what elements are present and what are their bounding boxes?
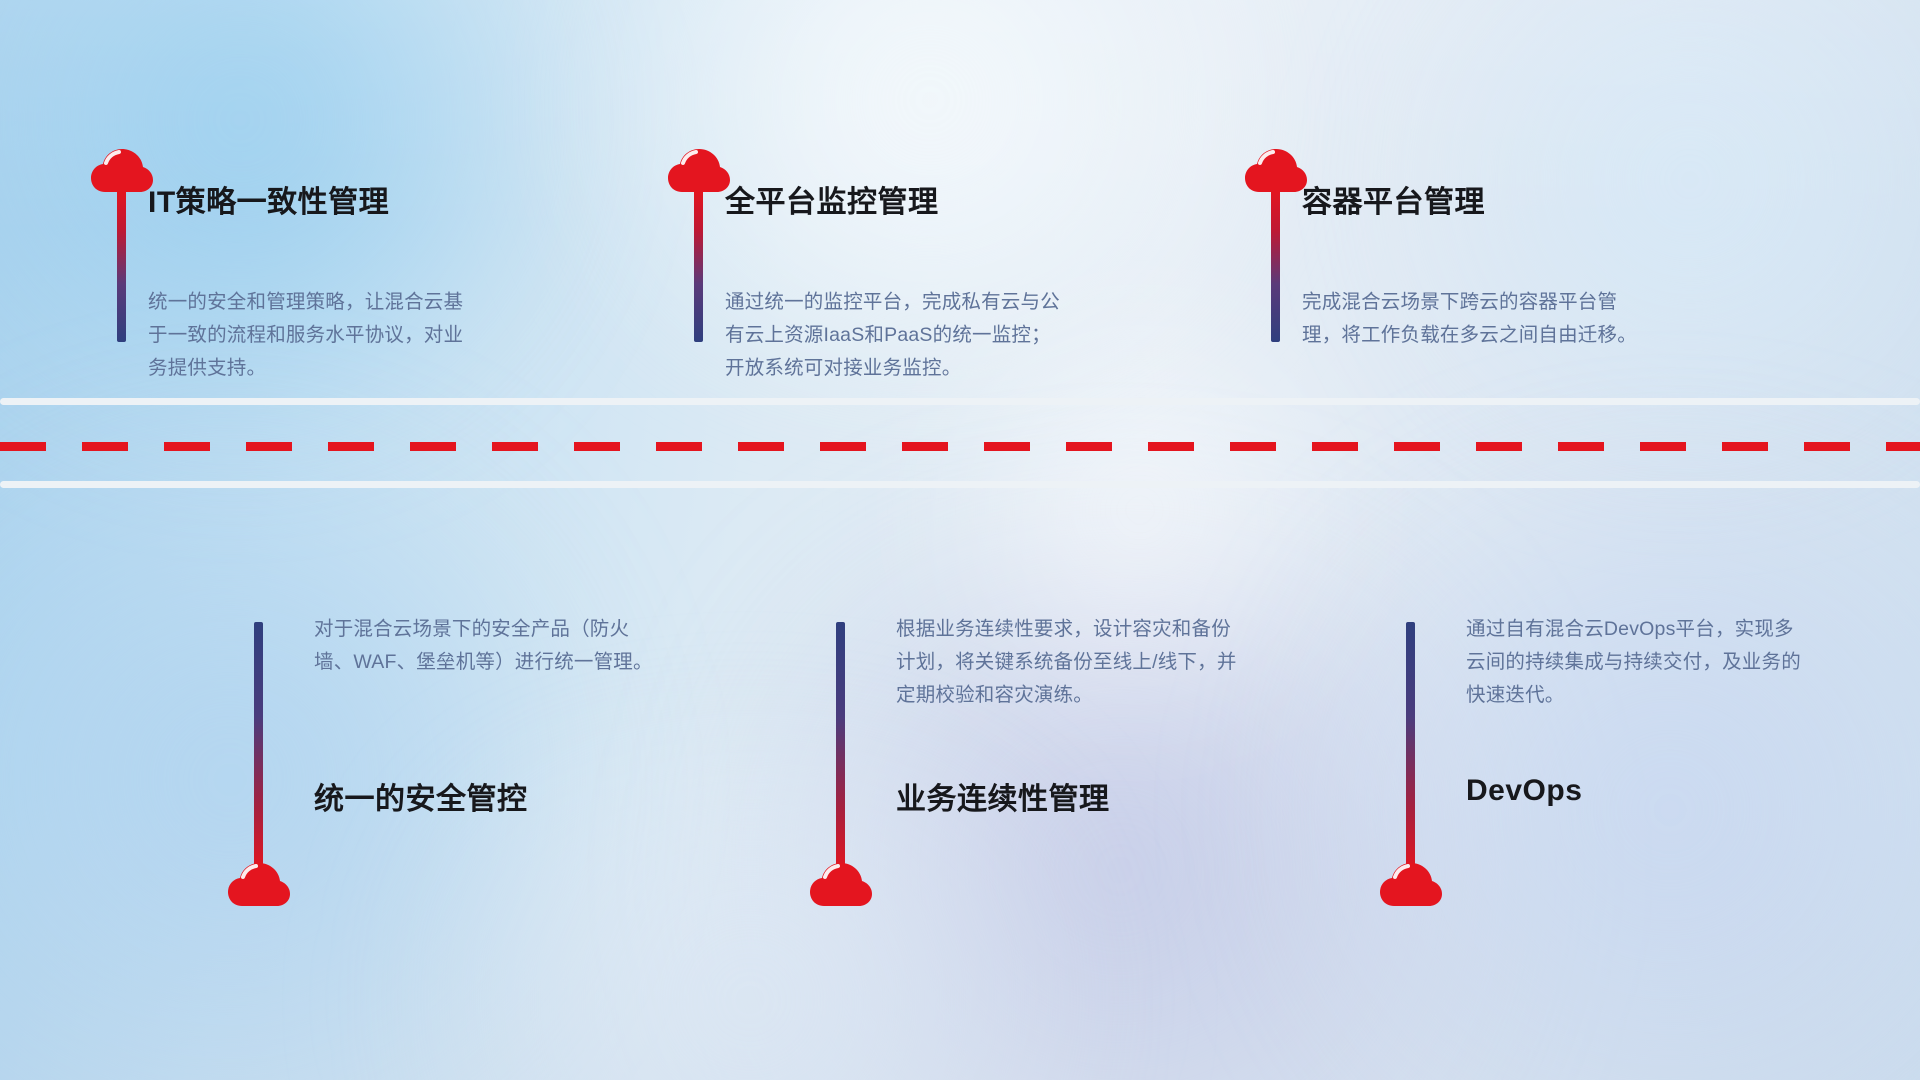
card-title: IT策略一致性管理: [148, 177, 389, 221]
card-title: 统一的安全管控: [314, 774, 528, 818]
connector-stem: [694, 190, 703, 342]
divider-rule-top: [0, 398, 1920, 405]
card-title: 业务连续性管理: [896, 774, 1110, 818]
connector-stem: [1406, 622, 1415, 872]
connector-stem: [117, 190, 126, 342]
cloud-icon: [91, 148, 153, 194]
cloud-icon: [668, 148, 730, 194]
connector-stem: [1271, 190, 1280, 342]
card-body: 通过自有混合云DevOps平台，实现多云间的持续集成与持续交付，及业务的快速迭代…: [1466, 613, 1811, 712]
cloud-icon: [1245, 148, 1307, 194]
card-title: 容器平台管理: [1302, 177, 1485, 221]
cloud-icon: [228, 862, 290, 908]
card-body: 统一的安全和管理策略，让混合云基于一致的流程和服务水平协议，对业务提供支持。: [148, 286, 478, 385]
cloud-icon: [810, 862, 872, 908]
card-body: 通过统一的监控平台，完成私有云与公有云上资源IaaS和PaaS的统一监控；开放系…: [725, 286, 1070, 385]
connector-stem: [254, 622, 263, 872]
divider-dashed-line: [0, 442, 1920, 451]
card-title: 全平台监控管理: [725, 177, 939, 221]
card-body: 对于混合云场景下的安全产品（防火墙、WAF、堡垒机等）进行统一管理。: [314, 613, 659, 679]
card-title: DevOps: [1466, 774, 1582, 808]
center-divider: [0, 398, 1920, 488]
background: [0, 0, 1920, 1080]
background-vignette: [0, 0, 1920, 1080]
divider-rule-bottom: [0, 481, 1920, 488]
card-body: 根据业务连续性要求，设计容灾和备份计划，将关键系统备份至线上/线下，并定期校验和…: [896, 613, 1241, 712]
cloud-icon: [1380, 862, 1442, 908]
connector-stem: [836, 622, 845, 872]
card-body: 完成混合云场景下跨云的容器平台管理，将工作负载在多云之间自由迁移。: [1302, 286, 1647, 352]
